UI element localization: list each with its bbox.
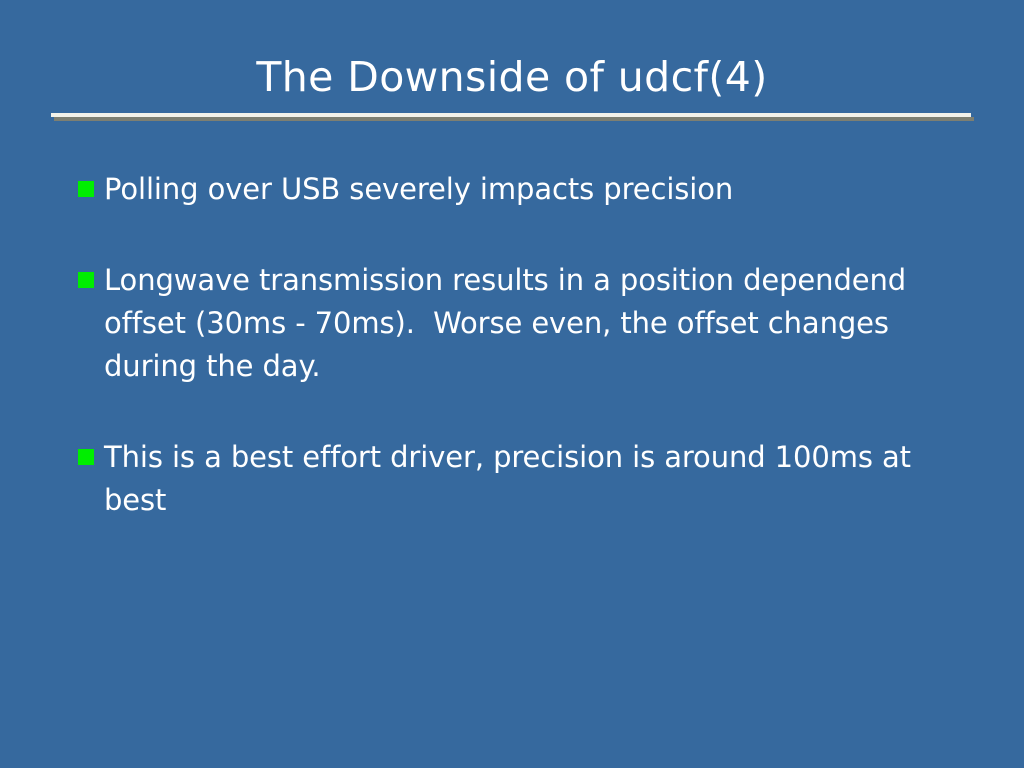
list-item-text: Longwave transmission results in a posit… [104, 259, 978, 388]
presentation-slide: The Downside of udcf(4) Polling over USB… [0, 0, 1024, 768]
slide-title-block: The Downside of udcf(4) [0, 54, 1024, 100]
list-item-text: Polling over USB severely impacts precis… [104, 168, 978, 211]
square-bullet-icon [78, 272, 94, 288]
title-divider-rule [51, 113, 971, 121]
page-title: The Downside of udcf(4) [0, 54, 1024, 100]
list-item: Polling over USB severely impacts precis… [78, 168, 978, 211]
list-item: Longwave transmission results in a posit… [78, 259, 978, 388]
list-item: This is a best effort driver, precision … [78, 436, 978, 522]
square-bullet-icon [78, 449, 94, 465]
divider-shadow [54, 117, 974, 121]
slide-body: Polling over USB severely impacts precis… [78, 168, 978, 522]
list-item-text: This is a best effort driver, precision … [104, 436, 978, 522]
square-bullet-icon [78, 181, 94, 197]
